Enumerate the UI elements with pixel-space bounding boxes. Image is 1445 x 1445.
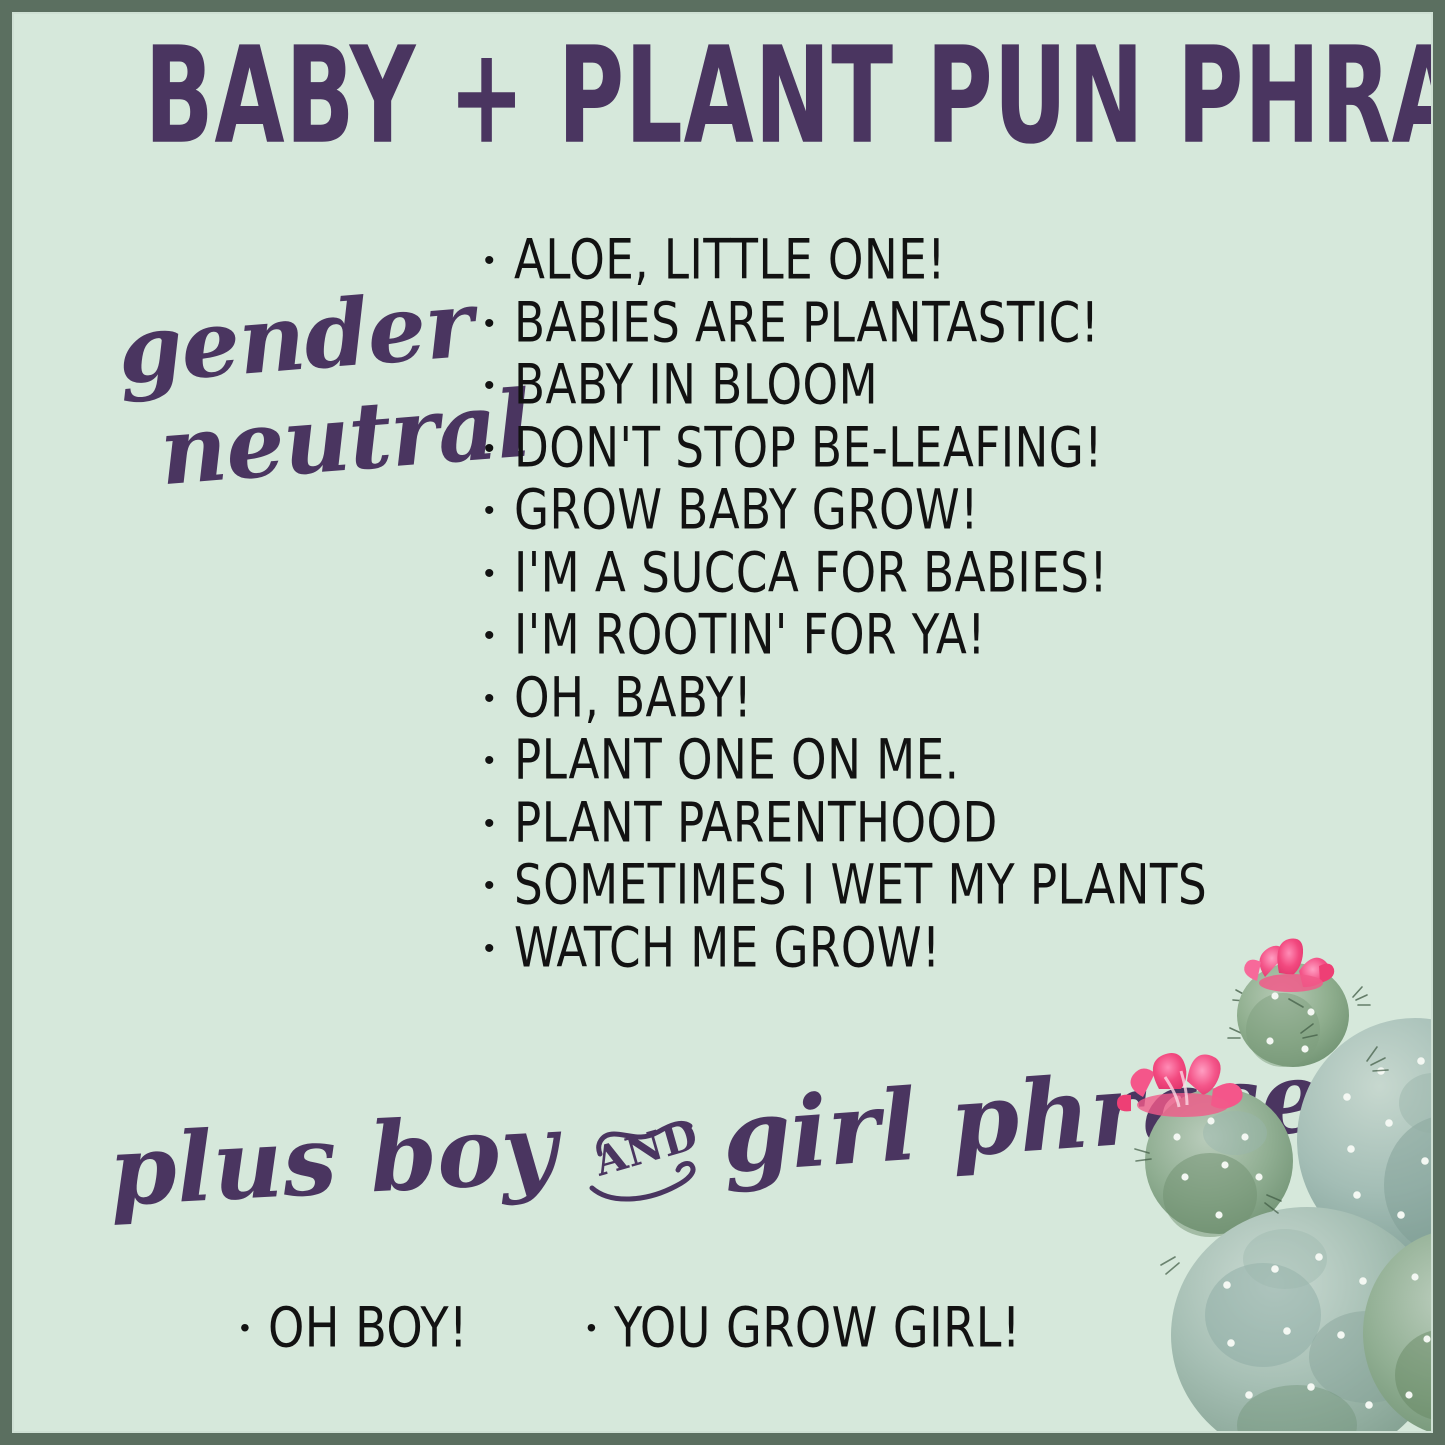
list-item-label: I'M A SUCCA FOR BABIES! [514, 544, 1108, 602]
list-item: • OH BOY! [240, 1300, 478, 1356]
list-item-label: GROW BABY GROW! [514, 481, 979, 539]
list-item: • BABIES ARE PLANTASTIC! [484, 295, 1364, 358]
list-item-label: PLANT ONE ON ME. [514, 731, 959, 789]
cactus-pad-far-right [1363, 1229, 1445, 1437]
bullet-icon: • [484, 496, 514, 526]
bullet-icon: • [240, 1314, 268, 1342]
list-item-label: PLANT PARENTHOOD [514, 794, 998, 852]
page-title: BABY + PLANT PUN PHRASES: [145, 22, 1301, 170]
list-item-label: DON'T STOP BE-LEAFING! [514, 419, 1103, 477]
boy-girl-label: plus boy AND girl phrases [112, 1096, 1122, 1246]
list-item-label: OH, BABY! [514, 669, 752, 727]
boy-girl-label-part2: girl phrases [719, 1042, 1381, 1190]
list-item-label: BABIES ARE PLANTASTIC! [514, 294, 1099, 352]
boy-girl-label-part1: plus boy [107, 1099, 559, 1222]
bullet-icon: • [484, 684, 514, 714]
bullet-icon: • [484, 871, 514, 901]
list-item: • YOU GROW GIRL! [586, 1300, 1042, 1356]
list-item-label: YOU GROW GIRL! [614, 1299, 1021, 1357]
list-item: • WATCH ME GROW! [484, 920, 1364, 983]
list-item-label: BABY IN BLOOM [514, 356, 878, 414]
list-item: • OH, BABY! [484, 670, 1364, 733]
bullet-icon: • [484, 621, 514, 651]
list-item: • I'M A SUCCA FOR BABIES! [484, 545, 1364, 608]
bullet-icon: • [586, 1314, 614, 1342]
list-item: • PLANT ONE ON ME. [484, 732, 1364, 795]
list-item: • DON'T STOP BE-LEAFING! [484, 420, 1364, 483]
list-item-label: OH BOY! [268, 1299, 468, 1357]
gender-neutral-phrase-list: • ALOE, LITTLE ONE! • BABIES ARE PLANTAS… [484, 232, 1364, 982]
list-item: • PLANT PARENTHOOD [484, 795, 1364, 858]
poster-canvas: BABY + PLANT PUN PHRASES: gender neutral… [0, 0, 1445, 1445]
bullet-icon: • [484, 746, 514, 776]
list-item: • GROW BABY GROW! [484, 482, 1364, 545]
list-item: • SOMETIMES I WET MY PLANTS [484, 857, 1364, 920]
gender-neutral-label: gender neutral [108, 273, 463, 507]
list-item: • ALOE, LITTLE ONE! [484, 232, 1364, 295]
list-item-label: WATCH ME GROW! [514, 919, 941, 977]
boy-girl-phrase-list: • OH BOY! • YOU GROW GIRL! [240, 1300, 1190, 1356]
list-item-label: ALOE, LITTLE ONE! [514, 231, 946, 289]
list-item-label: I'M ROOTIN' FOR YA! [514, 606, 986, 664]
bullet-icon: • [484, 934, 514, 964]
cactus-pad-bottom-center [1171, 1207, 1443, 1445]
bullet-icon: • [484, 309, 514, 339]
list-item: • I'M ROOTIN' FOR YA! [484, 607, 1364, 670]
gender-neutral-label-line2: neutral [116, 377, 463, 507]
bullet-icon: • [484, 434, 514, 464]
bullet-icon: • [484, 809, 514, 839]
list-item: • BABY IN BLOOM [484, 357, 1364, 420]
bullet-icon: • [484, 559, 514, 589]
bullet-icon: • [484, 371, 514, 401]
bullet-icon: • [484, 246, 514, 276]
list-item-label: SOMETIMES I WET MY PLANTS [514, 856, 1207, 914]
